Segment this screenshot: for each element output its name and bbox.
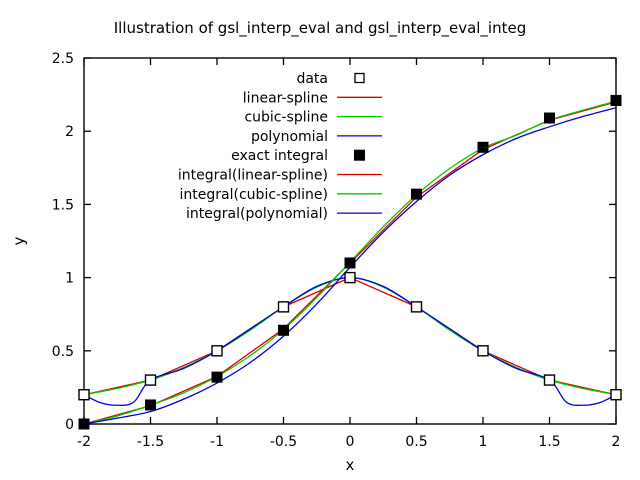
data-point-marker [545,375,555,385]
legend-open-square-icon [355,74,364,83]
data-point-marker [212,346,222,356]
y-tick-label: 1 [65,271,74,287]
chart-title: Illustration of gsl_interp_eval and gsl_… [114,19,527,38]
data-point-marker [611,390,621,400]
legend-label-polynomial: polynomial [251,129,328,145]
x-tick-label: -1 [210,434,224,450]
y-tick-label: 0.5 [52,344,74,360]
legend-label-data: data [296,71,328,87]
x-tick-label: 0.5 [405,434,427,450]
data-point-marker [345,273,355,283]
y-tick-label: 1.5 [52,197,74,213]
data-point-marker [412,302,422,312]
chart-container: Illustration of gsl_interp_eval and gsl_… [0,0,640,480]
series-line-linear-spline [84,278,616,395]
y-tick-label: 2.5 [52,51,74,67]
legend-filled-square-icon [355,150,365,160]
data-point-marker [146,375,156,385]
legend-label-cubic-spline: cubic-spline [244,110,328,126]
legend-label-linear-spline: linear-spline [243,90,328,106]
legend-label-integralpolynomial: integral(polynomial) [186,206,328,222]
x-tick-label: 0 [346,434,355,450]
data-point-marker [79,390,89,400]
data-point-marker [478,346,488,356]
exact-integral-marker [79,419,89,429]
x-tick-label: 1.5 [538,434,560,450]
exact-integral-marker [279,325,289,335]
x-tick-label: 1 [479,434,488,450]
exact-integral-marker [545,113,555,123]
plot-border [84,58,616,424]
x-tick-label: -0.5 [270,434,297,450]
legend-label-integrallinear-spline: integral(linear-spline) [178,168,328,184]
interpolation-chart: Illustration of gsl_interp_eval and gsl_… [0,0,640,480]
y-tick-label: 0 [65,417,74,433]
y-tick-label: 2 [65,124,74,140]
data-point-marker [279,302,289,312]
exact-integral-marker [212,372,222,382]
x-tick-label: -1.5 [137,434,164,450]
exact-integral-marker [611,95,621,105]
series-line-cubic-spline [84,278,616,395]
legend-label-integralcubic-spline: integral(cubic-spline) [180,187,328,203]
exact-integral-marker [478,142,488,152]
x-tick-label: 2 [612,434,621,450]
y-axis-title: y [10,236,28,245]
exact-integral-marker [146,400,156,410]
exact-integral-marker [345,258,355,268]
legend-label-exact-integral: exact integral [231,148,328,164]
x-axis-title: x [346,456,355,474]
x-tick-label: -2 [77,434,91,450]
exact-integral-marker [412,189,422,199]
series-line-polynomial [84,278,616,406]
